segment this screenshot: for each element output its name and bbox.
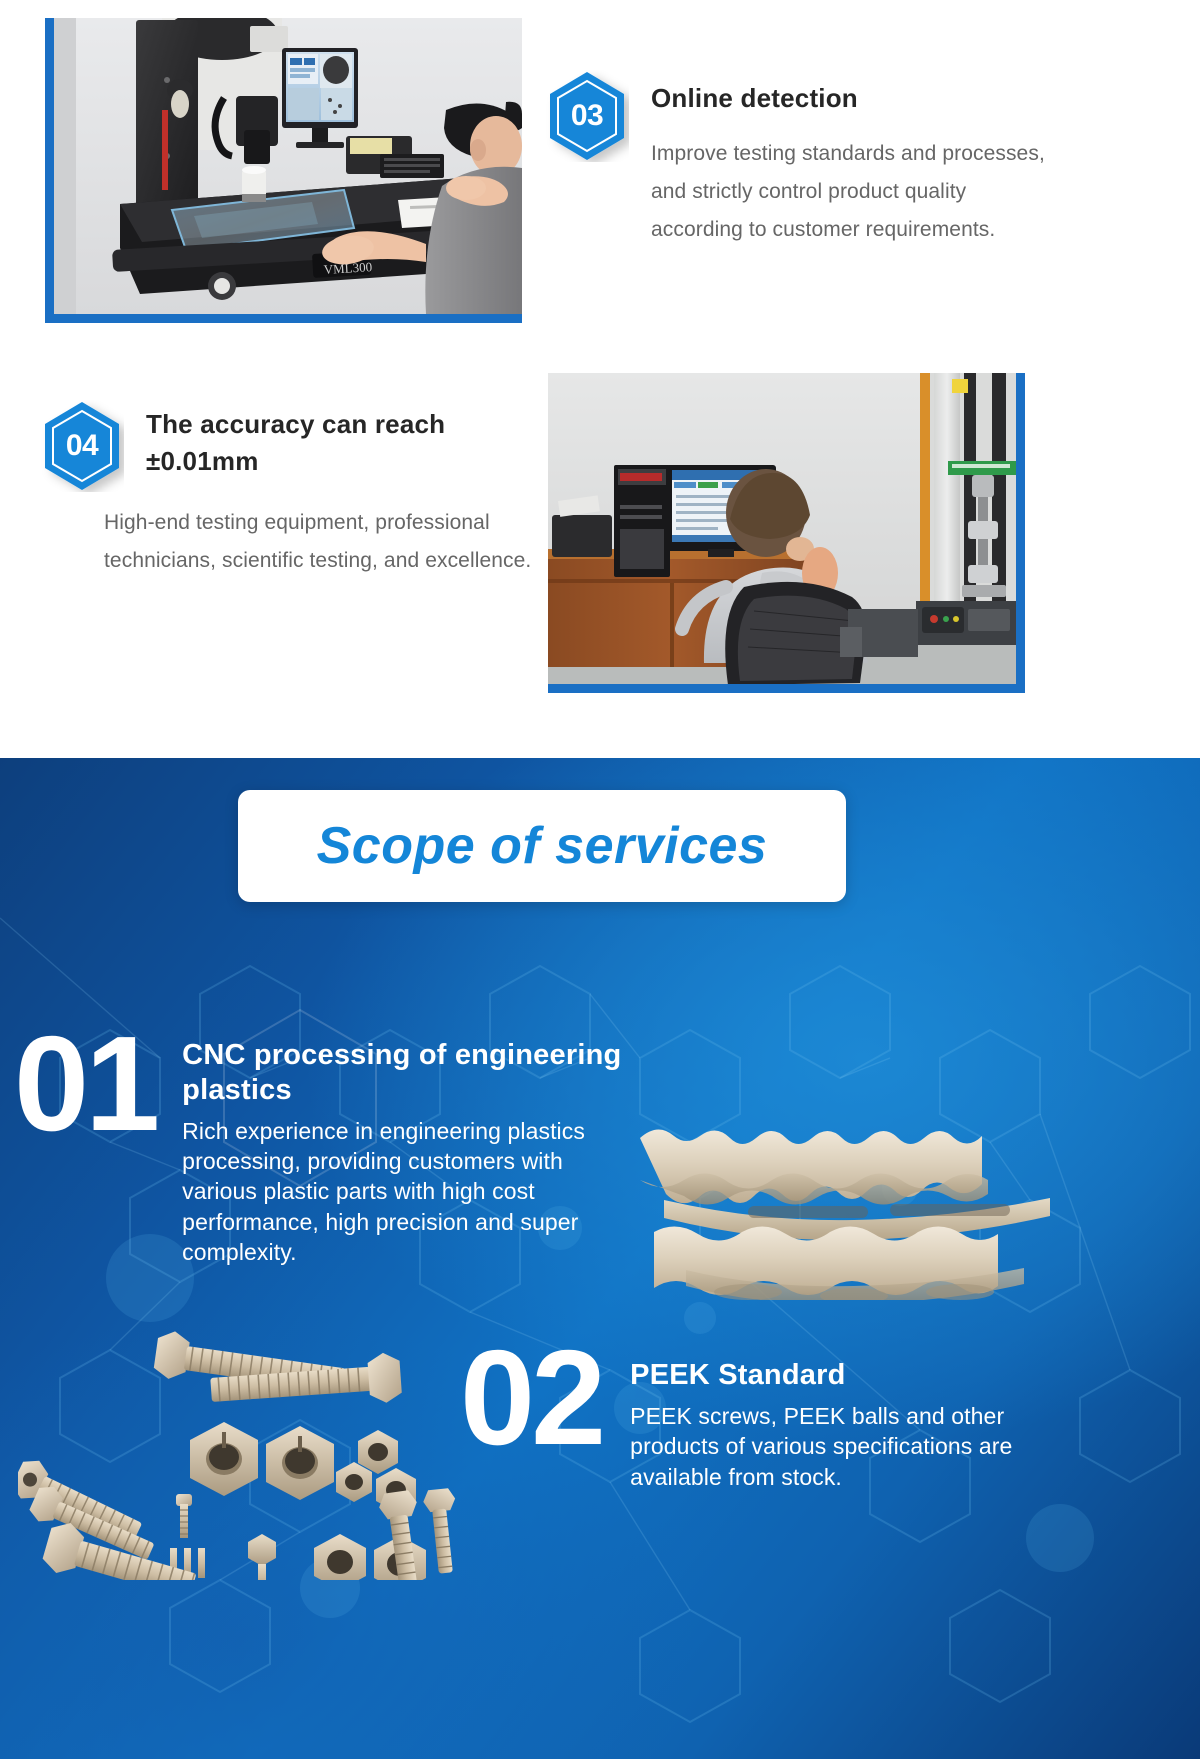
- scope-body-02: PEEK screws, PEEK balls and other produc…: [630, 1401, 1040, 1492]
- peek-machined-part-illustration: [628, 1060, 1083, 1300]
- feature-online-detection: 03 Online detection Improve testing stan…: [545, 70, 1065, 250]
- photo-accent-bar-bottom: [45, 314, 522, 323]
- online-detection-photo: VML300: [45, 18, 522, 323]
- scope-title-card: Scope of services: [238, 790, 846, 902]
- scope-number-01: 01: [14, 1022, 156, 1146]
- hexagon-badge-03: 03: [545, 70, 629, 162]
- photo-image-accuracy: [548, 373, 1016, 684]
- scope-body-01: Rich experience in engineering plastics …: [182, 1116, 622, 1268]
- photo-accent-bar-bottom: [548, 684, 1025, 693]
- scope-title-01: CNC processing of engineering plastics: [182, 1038, 622, 1108]
- photo-accent-bar-left: [45, 18, 54, 323]
- feature-body-03: Improve testing standards and processes,…: [651, 135, 1051, 250]
- photo-image-detection: VML300: [54, 18, 522, 314]
- product-photo-peek-screws: [18, 1290, 468, 1580]
- product-photo-peek-part: [628, 1060, 1083, 1300]
- detection-photo-illustration: VML300: [54, 18, 522, 314]
- feature-title-04: The accuracy can reach ±0.01mm: [146, 400, 546, 480]
- feature-accuracy: 04 The accuracy can reach ±0.01mm High-e…: [40, 400, 560, 580]
- scope-title-02: PEEK Standard: [630, 1358, 1040, 1393]
- badge-number-04: 04: [40, 400, 124, 492]
- feature-title-03: Online detection: [651, 70, 1051, 117]
- feature-body-04: High-end testing equipment, professional…: [104, 504, 546, 580]
- scope-item-02: 02 PEEK Standard PEEK screws, PEEK balls…: [460, 1336, 1190, 1492]
- photo-accent-bar-right: [1016, 373, 1025, 693]
- scope-item-01: 01 CNC processing of engineering plastic…: [14, 1022, 654, 1267]
- lab-photo-illustration: [548, 373, 1016, 684]
- scope-number-02: 02: [460, 1336, 602, 1460]
- scope-title: Scope of services: [317, 816, 768, 876]
- peek-screws-illustration: [18, 1290, 468, 1580]
- badge-number-03: 03: [545, 70, 629, 162]
- accuracy-photo: [548, 373, 1025, 693]
- features-section: VML300: [0, 0, 1200, 758]
- hexagon-badge-04: 04: [40, 400, 124, 492]
